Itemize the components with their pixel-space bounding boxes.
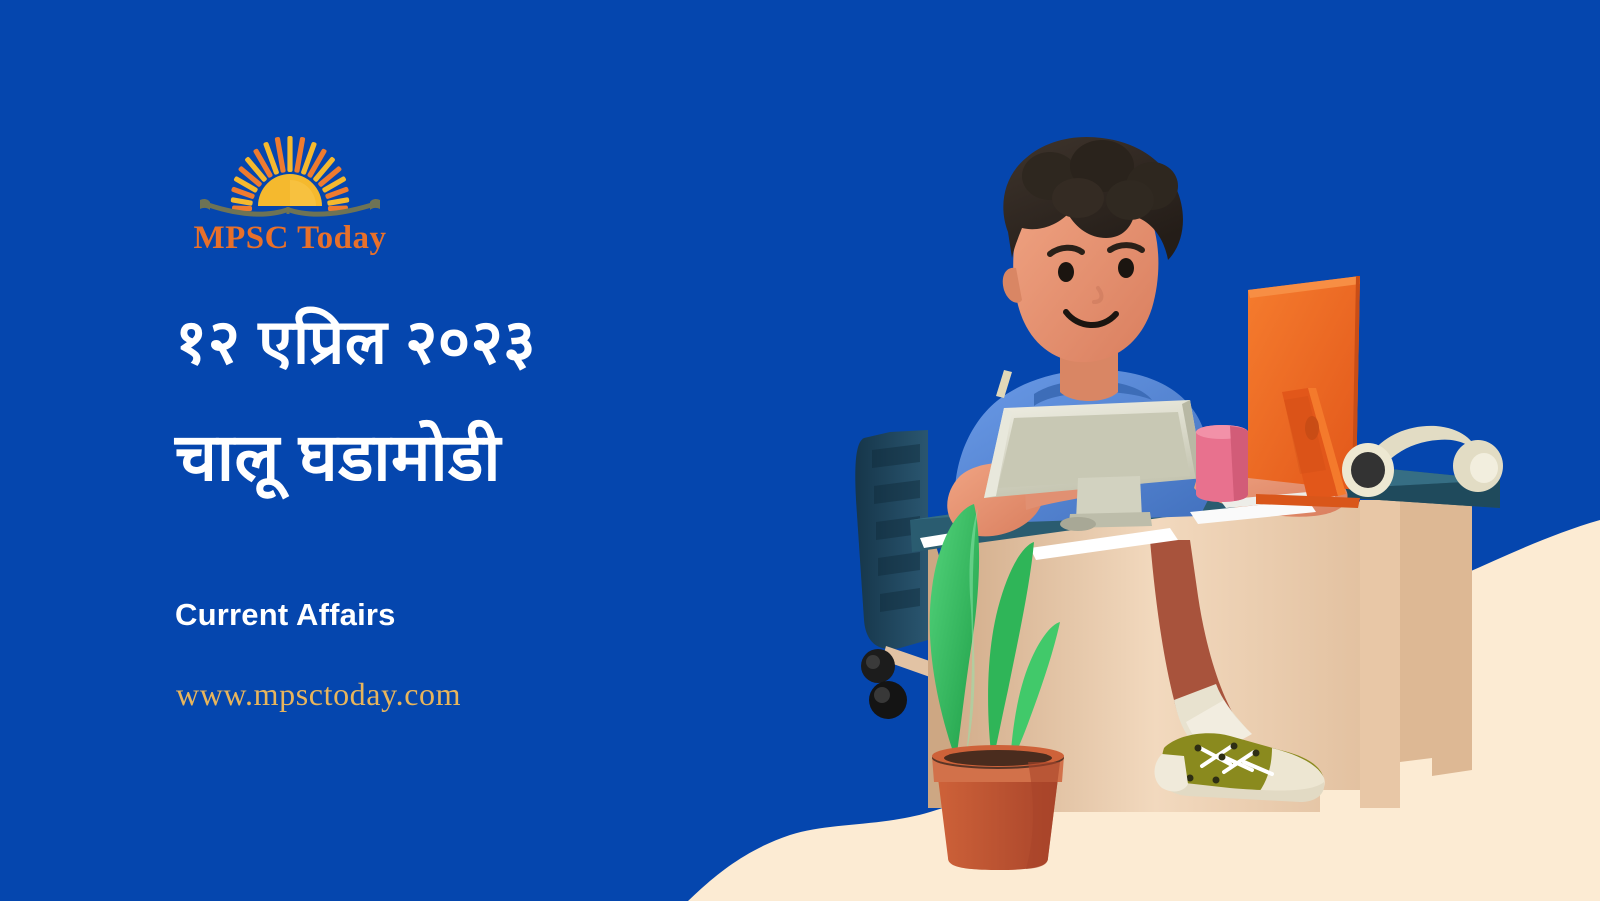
- sunrise-book-icon: [182, 128, 398, 224]
- brand-logo[interactable]: MPSC Today: [182, 128, 398, 264]
- headline-block: १२ एप्रिल २०२३ चालू घडामोडी: [175, 312, 735, 490]
- desk-scene-illustration: [760, 0, 1600, 901]
- subtitle-current-affairs: Current Affairs: [175, 597, 396, 633]
- coffee-cup: [1196, 425, 1248, 502]
- banner-root: MPSC Today १२ एप्रिल २०२३ चालू घडामोडी C…: [0, 0, 1600, 901]
- logo-wordmark: MPSC Today: [182, 220, 398, 257]
- headline-topic: चालू घडामोडी: [175, 424, 735, 490]
- website-url[interactable]: www.mpsctoday.com: [176, 676, 461, 713]
- headline-date: १२ एप्रिल २०२३: [175, 312, 735, 374]
- text-column: MPSC Today १२ एप्रिल २०२३ चालू घडामोडी C…: [0, 0, 760, 901]
